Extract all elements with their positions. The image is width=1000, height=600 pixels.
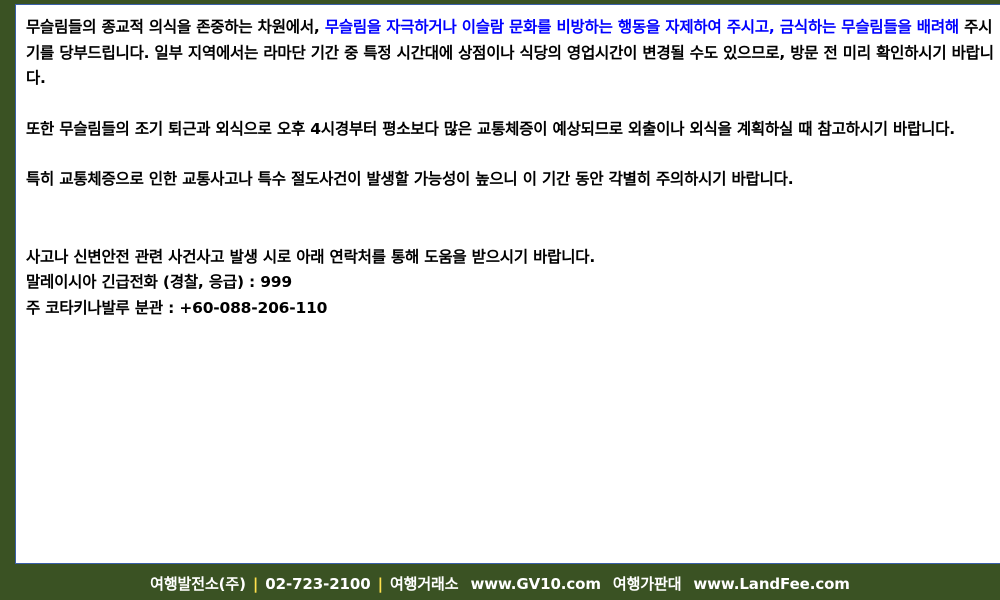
paragraph1-highlight-2: 금식하는 무슬림들을 배려해 (780, 18, 959, 36)
contact-intro: 사고나 신변안전 관련 사건사고 발생 시로 아래 연락처를 통해 도움을 받으… (26, 245, 1000, 271)
footer-brand2-url[interactable]: www.LandFee.com (693, 575, 849, 593)
footer-company-name: 여행발전소(주) (150, 573, 246, 594)
paragraph-spacer-2 (26, 142, 1000, 167)
footer-content: 여행발전소(주) | 02-723-2100 | 여행거래소 www.GV10.… (150, 573, 850, 594)
contact-consulate-number: 주 코타키나발루 분관 : +60-088-206-110 (26, 296, 1000, 322)
paragraph-theft-warning: 특히 교통체증으로 인한 교통사고나 특수 절도사건이 발생할 가능성이 높으니… (26, 167, 1000, 193)
contact-block: 사고나 신변안전 관련 사건사고 발생 시로 아래 연락처를 통해 도움을 받으… (26, 245, 1000, 322)
footer-separator-1: | (246, 575, 265, 593)
paragraph-spacer-1 (26, 92, 1000, 117)
paragraph1-highlight-1: 무슬림을 자극하거나 이슬람 문화를 비방하는 행동을 자제하여 주시고, (325, 18, 775, 36)
footer-bar: 여행발전소(주) | 02-723-2100 | 여행거래소 www.GV10.… (0, 566, 1000, 600)
footer-brand1-label: 여행거래소 (390, 573, 459, 594)
footer-brand1-url[interactable]: www.GV10.com (470, 575, 600, 593)
paragraph1-plain-lead: 무슬림들의 종교적 의식을 존중하는 차원에서, (26, 18, 325, 36)
footer-separator-2: | (371, 575, 390, 593)
footer-brand2-label: 여행가판대 (613, 573, 682, 594)
paragraph-ramadan-etiquette: 무슬림들의 종교적 의식을 존중하는 차원에서, 무슬림을 자극하거나 이슬람 … (26, 15, 1000, 92)
notice-body: 무슬림들의 종교적 의식을 존중하는 차원에서, 무슬림을 자극하거나 이슬람 … (26, 15, 1000, 321)
contact-emergency-number: 말레이시아 긴급전화 (경찰, 응급) : 999 (26, 270, 1000, 296)
footer-phone-number: 02-723-2100 (265, 575, 370, 593)
paragraph-spacer-3 (26, 193, 1000, 245)
paragraph-traffic-warning: 또한 무슬림들의 조기 퇴근과 외식으로 오후 4시경부터 평소보다 많은 교통… (26, 117, 1000, 143)
notice-frame: 무슬림들의 종교적 의식을 존중하는 차원에서, 무슬림을 자극하거나 이슬람 … (0, 0, 1000, 600)
content-sheet: 무슬림들의 종교적 의식을 존중하는 차원에서, 무슬림을 자극하거나 이슬람 … (15, 4, 1000, 564)
